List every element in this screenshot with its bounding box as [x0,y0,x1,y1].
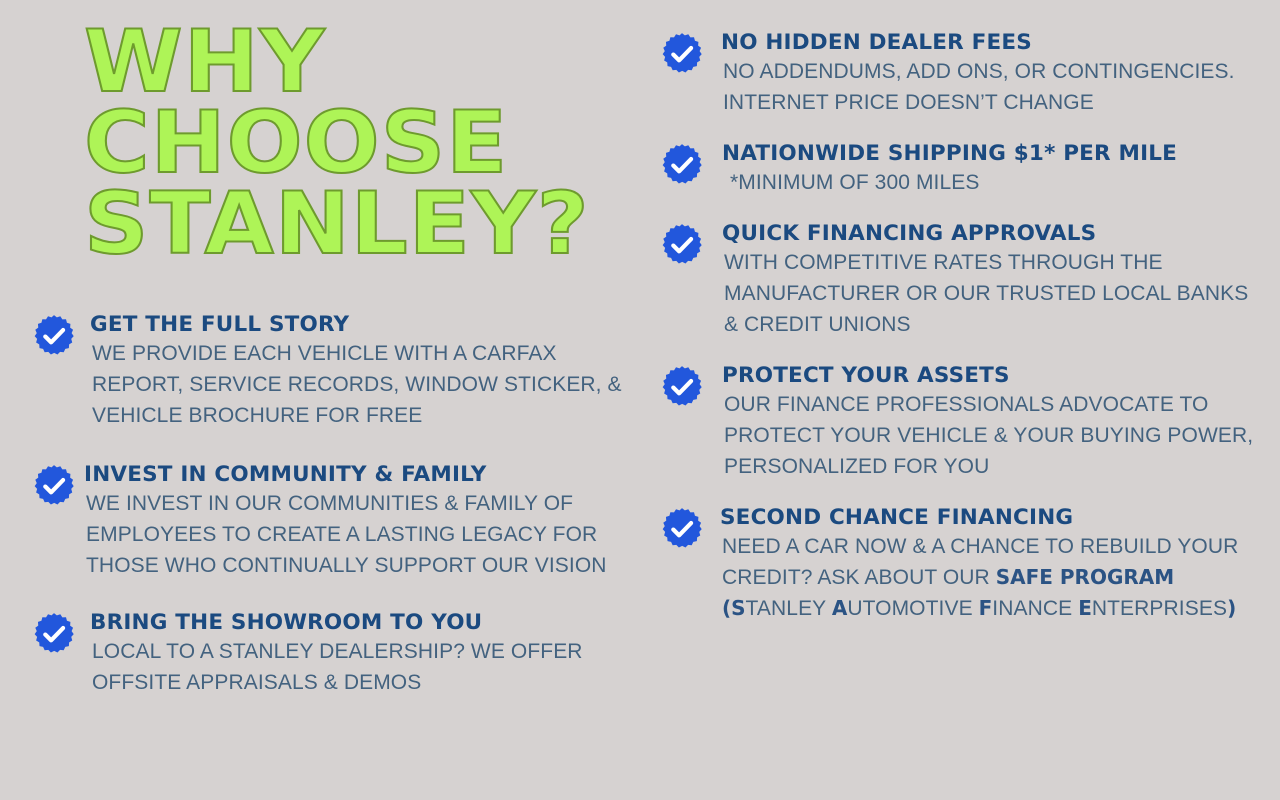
feature-body-rich: NEED A CAR NOW & A CHANCE TO REBUILD YOU… [720,532,1256,625]
check-badge-icon [660,507,704,551]
feature-title: SECOND CHANCE FINANCING [720,505,1256,531]
headline-line-1: WHY [84,22,625,103]
feature-body: WITH COMPETITIVE RATES THROUGH THE MANUF… [722,248,1256,341]
check-badge-icon [660,223,704,267]
feature-body: OUR FINANCE PROFESSIONALS ADVOCATE TO PR… [722,390,1256,483]
features-left-column: GET THE FULL STORY WE PROVIDE EACH VEHIC… [28,312,624,721]
check-badge-icon [32,314,76,358]
feature-invest-in-community-family: INVEST IN COMMUNITY & FAMILY WE INVEST I… [28,462,624,582]
feature-title: INVEST IN COMMUNITY & FAMILY [84,462,624,488]
feature-body: *MINIMUM OF 300 MILES [722,168,1256,199]
feature-bring-the-showroom-to-you: BRING THE SHOWROOM TO YOU LOCAL TO A STA… [28,610,624,699]
feature-nationwide-shipping: NATIONWIDE SHIPPING $1* PER MILE *MINIMU… [656,141,1256,199]
feature-body: LOCAL TO A STANLEY DEALERSHIP? WE OFFER … [90,637,624,699]
feature-second-chance-financing: SECOND CHANCE FINANCING NEED A CAR NOW &… [656,505,1256,625]
check-badge-icon [660,365,704,409]
why-choose-stanley-infographic: WHY CHOOSE STANLEY? GET THE FULL STORY W… [0,0,1280,800]
feature-title: NATIONWIDE SHIPPING $1* PER MILE [722,141,1256,167]
feature-title: QUICK FINANCING APPROVALS [722,221,1256,247]
feature-no-hidden-dealer-fees: NO HIDDEN DEALER FEES NO ADDENDUMS, ADD … [656,30,1256,119]
feature-body: WE PROVIDE EACH VEHICLE WITH A CARFAX RE… [90,339,624,432]
headline-line-2: CHOOSE [84,103,625,184]
feature-title: NO HIDDEN DEALER FEES [721,30,1256,56]
check-badge-icon [660,32,704,76]
feature-body: WE INVEST IN OUR COMMUNITIES & FAMILY OF… [84,489,624,582]
feature-protect-your-assets: PROTECT YOUR ASSETS OUR FINANCE PROFESSI… [656,363,1256,483]
headline-line-3: STANLEY? [84,184,625,265]
check-badge-icon [660,143,704,187]
feature-title: BRING THE SHOWROOM TO YOU [90,610,624,636]
page-title: WHY CHOOSE STANLEY? [84,22,604,264]
feature-body: NO ADDENDUMS, ADD ONS, OR CONTINGENCIES.… [721,57,1256,119]
features-right-column: NO HIDDEN DEALER FEES NO ADDENDUMS, ADD … [656,30,1256,646]
check-badge-icon [32,612,76,656]
feature-get-the-full-story: GET THE FULL STORY WE PROVIDE EACH VEHIC… [28,312,624,432]
feature-title: PROTECT YOUR ASSETS [722,363,1256,389]
feature-title: GET THE FULL STORY [90,312,624,338]
check-badge-icon [32,464,76,508]
feature-quick-financing-approvals: QUICK FINANCING APPROVALS WITH COMPETITI… [656,221,1256,341]
